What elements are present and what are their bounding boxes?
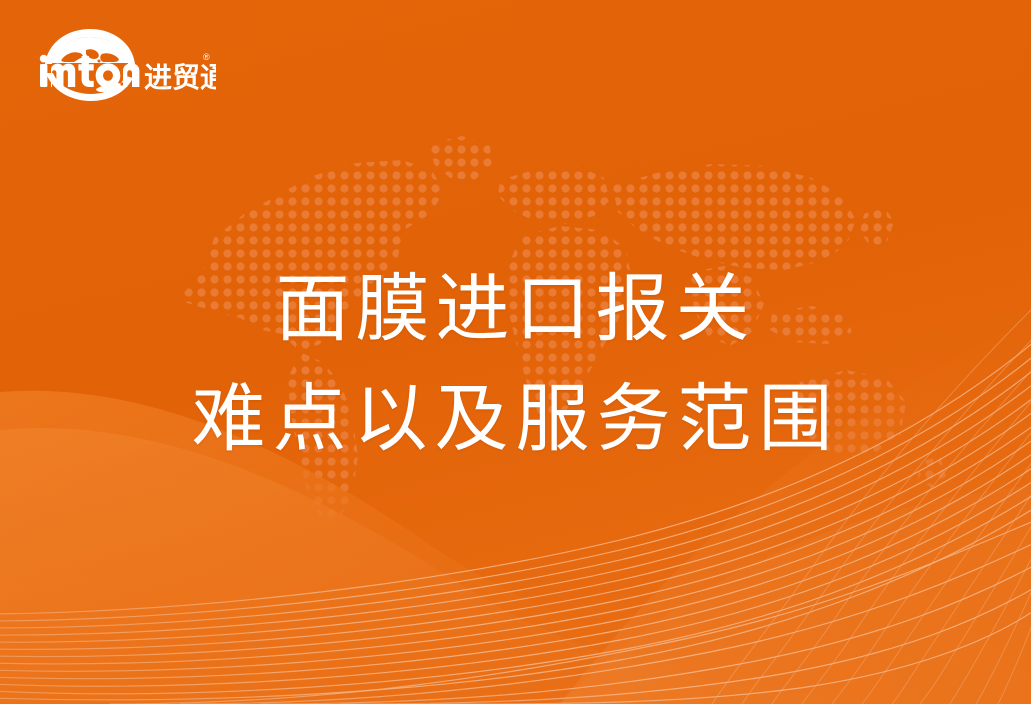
brand-logo[interactable]: 进贸通 ®: [36, 26, 216, 104]
logo-wordmark-chinese: 进贸通: [144, 62, 216, 93]
globe-arc-icon: [45, 29, 135, 64]
title-line-2: 难点以及服务范围: [0, 365, 1031, 475]
title-line-1: 面膜进口报关: [0, 255, 1031, 365]
promo-banner: 进贸通 ® 面膜进口报关 难点以及服务范围: [0, 0, 1031, 704]
title-block: 面膜进口报关 难点以及服务范围: [0, 255, 1031, 475]
registered-mark: ®: [203, 52, 210, 62]
